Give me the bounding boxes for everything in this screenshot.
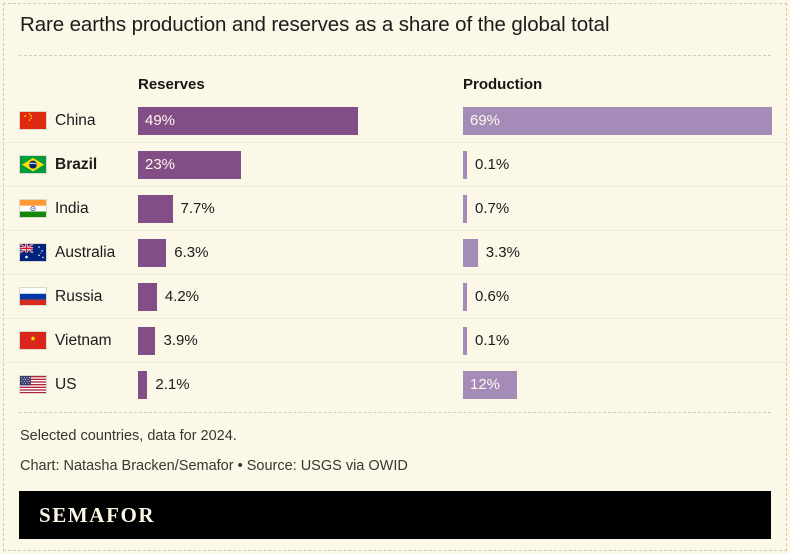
country-label: Vietnam xyxy=(55,332,112,350)
bar-reserves[interactable]: 23% xyxy=(138,151,241,179)
bar-value-label: 2.1% xyxy=(155,376,189,393)
title-divider xyxy=(19,55,771,56)
bar-reserves[interactable]: 49% xyxy=(138,107,358,135)
country-cell: Brazil xyxy=(19,143,97,186)
bar-value-label: 6.3% xyxy=(174,244,208,261)
chart-row: Russia4.2%0.6% xyxy=(0,275,790,319)
country-label: Russia xyxy=(55,288,102,306)
footnote-selection: Selected countries, data for 2024. xyxy=(20,428,237,444)
bar-production[interactable] xyxy=(463,195,467,223)
bar-production[interactable] xyxy=(463,327,467,355)
column-header-production: Production xyxy=(463,76,542,93)
bar-track-production: 0.6% xyxy=(463,275,509,318)
country-label: Brazil xyxy=(55,156,97,174)
bar-value-label: 4.2% xyxy=(165,288,199,305)
bar-track-production: 0.1% xyxy=(463,143,509,186)
country-cell: Australia xyxy=(19,231,115,274)
chart-row: US2.1%12% xyxy=(0,363,790,406)
bar-value-label: 12% xyxy=(463,376,500,393)
chart-row: Australia6.3%3.3% xyxy=(0,231,790,275)
bar-reserves[interactable] xyxy=(138,283,157,311)
flag-australia-icon xyxy=(19,243,47,262)
bar-track-production: 0.7% xyxy=(463,187,509,230)
footnote-credit-source: Chart: Natasha Bracken/Semafor • Source:… xyxy=(20,458,408,474)
bar-reserves[interactable] xyxy=(138,239,166,267)
bar-production[interactable]: 12% xyxy=(463,371,517,399)
country-label: Australia xyxy=(55,244,115,262)
flag-india-icon xyxy=(19,199,47,218)
bar-track-production: 69% xyxy=(463,99,772,142)
chart-row: India7.7%0.7% xyxy=(0,187,790,231)
country-label: India xyxy=(55,200,89,218)
chart-row: Brazil23%0.1% xyxy=(0,143,790,187)
bar-track-production: 0.1% xyxy=(463,319,509,362)
bar-value-label: 3.9% xyxy=(163,332,197,349)
country-label: US xyxy=(55,376,77,394)
bar-track-reserves: 49% xyxy=(138,99,358,142)
flag-brazil-icon xyxy=(19,155,47,174)
bar-value-label: 69% xyxy=(463,112,500,129)
flag-us-icon xyxy=(19,375,47,394)
bar-production[interactable] xyxy=(463,283,467,311)
bar-reserves[interactable] xyxy=(138,195,173,223)
bar-value-label: 0.1% xyxy=(475,332,509,349)
bar-track-reserves: 3.9% xyxy=(138,319,198,362)
page-title: Rare earths production and reserves as a… xyxy=(20,13,609,37)
bar-production[interactable]: 69% xyxy=(463,107,772,135)
bar-value-label: 49% xyxy=(138,112,175,129)
chart-figure: Rare earths production and reserves as a… xyxy=(0,0,790,554)
bar-value-label: 0.1% xyxy=(475,156,509,173)
bar-production[interactable] xyxy=(463,151,467,179)
chart-row: China49%69% xyxy=(0,99,790,143)
semafor-wordmark: SEMAFOR xyxy=(39,503,155,528)
flag-china-icon xyxy=(19,111,47,130)
bar-value-label: 0.6% xyxy=(475,288,509,305)
bar-production[interactable] xyxy=(463,239,478,267)
bar-value-label: 7.7% xyxy=(181,200,215,217)
bar-track-reserves: 7.7% xyxy=(138,187,215,230)
country-cell: Russia xyxy=(19,275,102,318)
chart-rows: China49%69%Brazil23%0.1%India7.7%0.7%Aus… xyxy=(0,99,790,406)
country-cell: US xyxy=(19,363,77,406)
bar-track-reserves: 23% xyxy=(138,143,241,186)
bar-track-production: 3.3% xyxy=(463,231,520,274)
country-label: China xyxy=(55,112,96,130)
footer-divider xyxy=(19,412,771,413)
country-cell: India xyxy=(19,187,89,230)
flag-vietnam-icon xyxy=(19,331,47,350)
bar-value-label: 3.3% xyxy=(486,244,520,261)
country-cell: China xyxy=(19,99,96,142)
bar-track-reserves: 4.2% xyxy=(138,275,199,318)
bar-track-reserves: 6.3% xyxy=(138,231,208,274)
chart-row: Vietnam3.9%0.1% xyxy=(0,319,790,363)
bar-track-production: 12% xyxy=(463,363,517,406)
country-cell: Vietnam xyxy=(19,319,112,362)
bar-value-label: 23% xyxy=(138,156,175,173)
semafor-logo-bar: SEMAFOR xyxy=(19,491,771,539)
column-header-reserves: Reserves xyxy=(138,76,205,93)
bar-track-reserves: 2.1% xyxy=(138,363,190,406)
bar-value-label: 0.7% xyxy=(475,200,509,217)
flag-russia-icon xyxy=(19,287,47,306)
bar-reserves[interactable] xyxy=(138,371,147,399)
bar-reserves[interactable] xyxy=(138,327,155,355)
